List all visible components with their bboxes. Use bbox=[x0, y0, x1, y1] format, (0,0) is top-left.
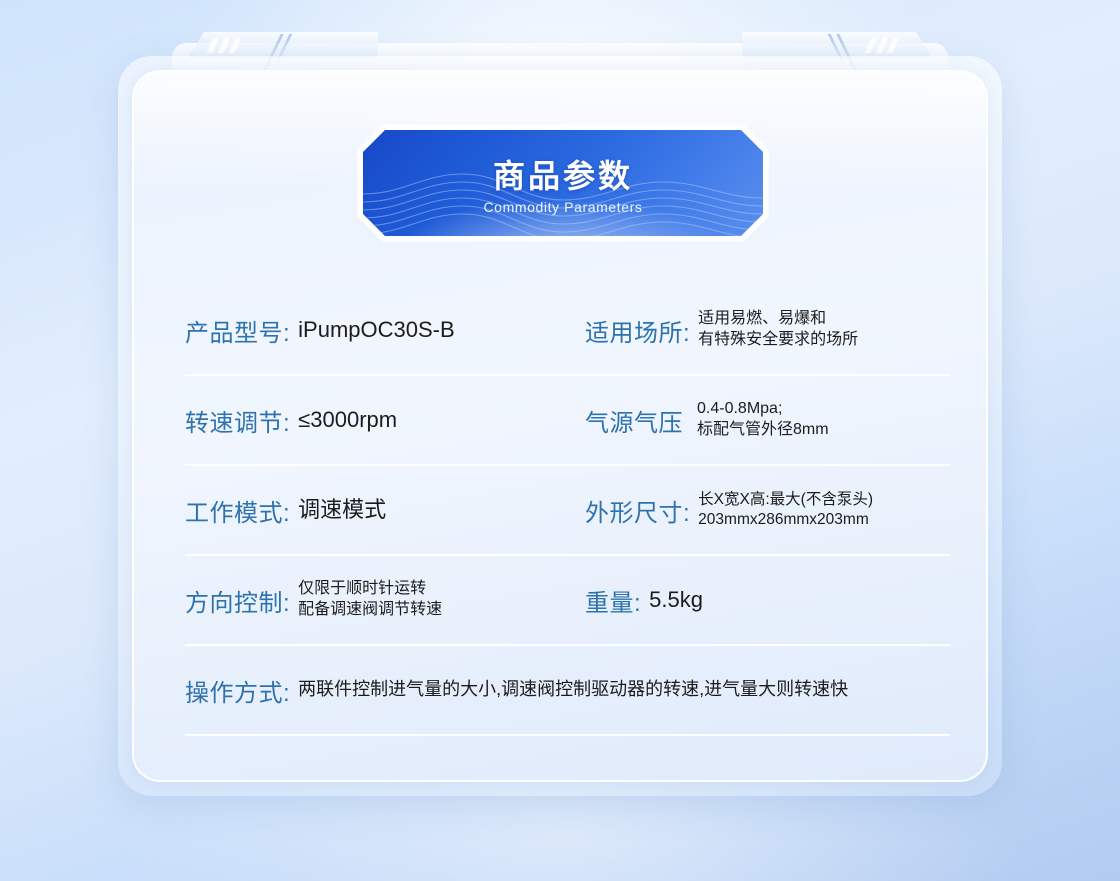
table-row: 产品型号: iPumpOC30S-B 适用场所: 适用易燃、易爆和 有特殊安全要… bbox=[185, 286, 950, 376]
spec-item-air-pressure: 气源气压 0.4-0.8Mpa; 标配气管外径8mm bbox=[585, 376, 950, 464]
spec-item-weight: 重量: 5.5kg bbox=[585, 556, 950, 644]
table-row: 方向控制: 仅限于顺时针运转 配备调速阀调节转速 重量: 5.5kg bbox=[185, 556, 950, 646]
table-row: 工作模式: 调速模式 外形尺寸: 长X宽X高:最大(不含泵头) 203mmx28… bbox=[185, 466, 950, 556]
spec-item-product-model: 产品型号: iPumpOC30S-B bbox=[185, 286, 585, 374]
spec-value: 适用易燃、易爆和 有特殊安全要求的场所 bbox=[698, 309, 858, 351]
spec-item-direction-control: 方向控制: 仅限于顺时针运转 配备调速阀调节转速 bbox=[185, 556, 585, 644]
spec-value: ≤3000rpm bbox=[298, 407, 397, 433]
banner-subtitle: Commodity Parameters bbox=[483, 199, 642, 215]
table-row: 转速调节: ≤3000rpm 气源气压 0.4-0.8Mpa; 标配气管外径8m… bbox=[185, 376, 950, 466]
banner-title: 商品参数 bbox=[493, 151, 633, 197]
spec-item-dimensions: 外形尺寸: 长X宽X高:最大(不含泵头) 203mmx286mmx203mm bbox=[585, 466, 950, 554]
spec-label: 工作模式: bbox=[185, 493, 290, 528]
spec-value: 0.4-0.8Mpa; 标配气管外径8mm bbox=[697, 399, 829, 441]
spec-item-speed-adjustment: 转速调节: ≤3000rpm bbox=[185, 376, 585, 464]
spec-value: 长X宽X高:最大(不含泵头) 203mmx286mmx203mm bbox=[698, 490, 873, 531]
spec-table: 产品型号: iPumpOC30S-B 适用场所: 适用易燃、易爆和 有特殊安全要… bbox=[185, 286, 950, 736]
spec-value: iPumpOC30S-B bbox=[298, 317, 455, 343]
banner-body: 商品参数 Commodity Parameters bbox=[363, 130, 763, 236]
spec-item-operation-method: 操作方式: 两联件控制进气量的大小,调速阀控制驱动器的转速,进气量大则转速快 bbox=[185, 646, 950, 734]
spec-label: 气源气压 bbox=[585, 403, 683, 438]
spec-value: 仅限于顺时针运转 配备调速阀调节转速 bbox=[298, 579, 442, 621]
tech-frame-tab-left bbox=[188, 32, 378, 58]
spec-label: 产品型号: bbox=[185, 313, 290, 348]
spec-item-application-site: 适用场所: 适用易燃、易爆和 有特殊安全要求的场所 bbox=[585, 286, 950, 374]
spec-value: 两联件控制进气量的大小,调速阀控制驱动器的转速,进气量大则转速快 bbox=[298, 679, 848, 700]
spec-label: 转速调节: bbox=[185, 403, 290, 438]
spec-label: 操作方式: bbox=[185, 673, 290, 708]
spec-item-working-mode: 工作模式: 调速模式 bbox=[185, 466, 585, 554]
table-row: 操作方式: 两联件控制进气量的大小,调速阀控制驱动器的转速,进气量大则转速快 bbox=[185, 646, 950, 736]
spec-label: 重量: bbox=[585, 583, 641, 618]
commodity-parameters-banner: 商品参数 Commodity Parameters bbox=[357, 124, 769, 242]
spec-label: 方向控制: bbox=[185, 583, 290, 618]
tech-stripes-left-icon bbox=[208, 38, 254, 53]
spec-value: 5.5kg bbox=[649, 587, 703, 613]
spec-value: 调速模式 bbox=[298, 497, 386, 523]
tech-frame-tab-right bbox=[742, 32, 932, 58]
spec-label: 外形尺寸: bbox=[585, 493, 690, 528]
tech-stripes-right-icon bbox=[866, 38, 912, 53]
spec-label: 适用场所: bbox=[585, 313, 690, 348]
